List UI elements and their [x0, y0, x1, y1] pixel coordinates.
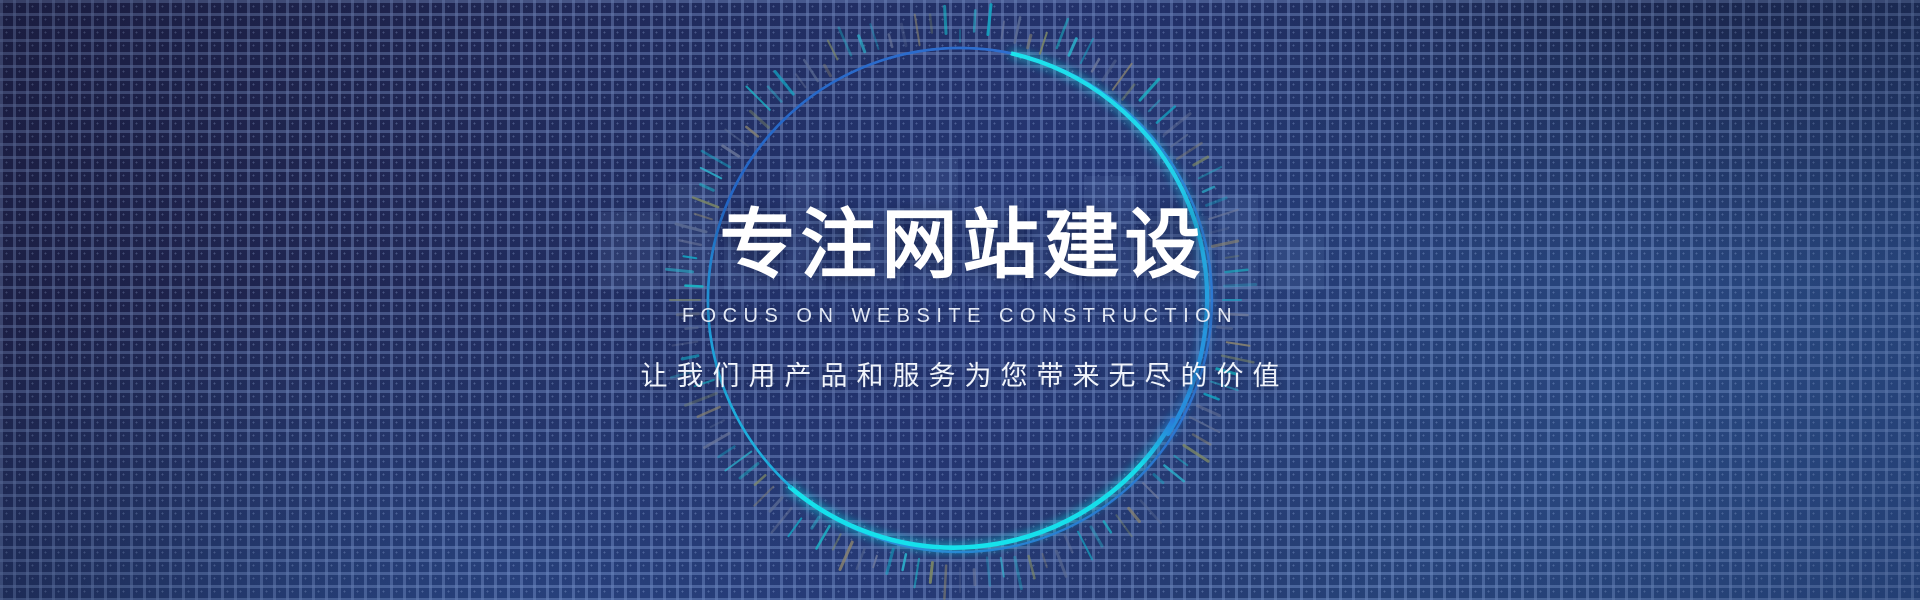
hero-banner: 专注网站建设 FOCUS ON WEBSITE CONSTRUCTION 让我们… — [0, 0, 1920, 600]
banner-content: 专注网站建设 FOCUS ON WEBSITE CONSTRUCTION 让我们… — [0, 0, 1920, 600]
banner-subtitle-english: FOCUS ON WEBSITE CONSTRUCTION — [682, 305, 1238, 328]
banner-title: 专注网站建设 — [715, 207, 1206, 283]
banner-subtitle-chinese: 让我们用产品和服务为您带来无尽的价值 — [632, 354, 1289, 393]
